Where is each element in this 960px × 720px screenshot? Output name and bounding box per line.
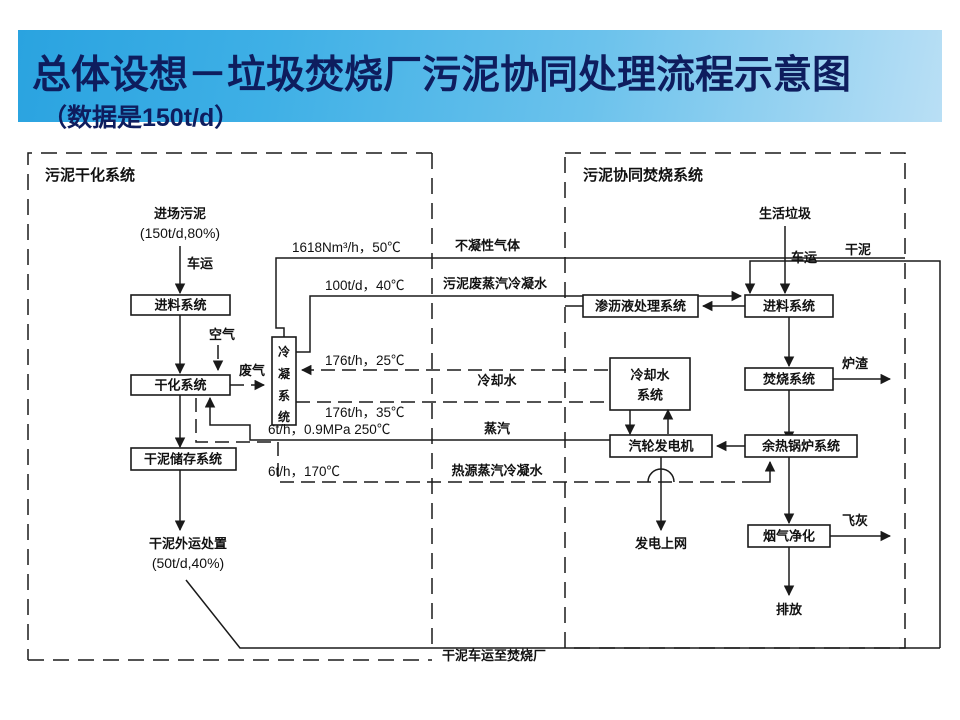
stream-noncondensable-value: 1618Nm³/h，50℃ [292,240,401,255]
title-banner: 总体设想－垃圾焚烧厂污泥协同处理流程示意图 （数据是150t/d） [18,30,942,122]
dry-sludge-output-value: (50t/d,40%) [152,555,224,571]
truck-transport-label-left: 车运 [187,256,213,272]
fly-ash-label: 飞灰 [842,513,868,529]
right-zone-title: 污泥协同焚烧系统 [583,166,703,184]
box-leachate-treatment-label: 渗沥液处理系统 [595,299,686,315]
sludge-input-value: (150t/d,80%) [140,225,220,241]
air-label: 空气 [209,327,235,343]
box-condensation-char-3: 系 [278,388,290,403]
stream-sludge-condensate-name: 污泥废蒸汽冷凝水 [443,276,548,292]
box-condensation-system-label: 冷 [278,344,290,359]
page-title: 总体设想－垃圾焚烧厂污泥协同处理流程示意图 [32,56,851,95]
stream-steam-name: 蒸汽 [484,421,510,437]
box-cooling-water-system-label-2: 系统 [637,388,663,404]
truck-transport-label-right: 车运 [791,250,817,266]
box-condensation-char-2: 凝 [278,366,291,381]
slide-page: 总体设想－垃圾焚烧厂污泥协同处理流程示意图 （数据是150t/d） 污泥干化系统… [0,0,960,720]
page-subtitle: （数据是150t/d） [42,106,239,131]
stream-sludge-condensate-value: 100t/d，40℃ [325,278,405,293]
box-waste-heat-boiler-label: 余热锅炉系统 [761,439,840,455]
power-to-grid-label: 发电上网 [634,536,687,552]
box-feed-system-right-label: 进料系统 [763,299,815,315]
dry-sludge-output-label: 干泥外运处置 [149,536,227,552]
box-dry-sludge-storage-label: 干泥储存系统 [144,452,222,468]
stream-noncondensable-name: 不凝性气体 [455,238,521,254]
box-drying-system-label: 干化系统 [154,378,206,394]
process-flow-diagram: 污泥干化系统 污泥协同焚烧系统 进场污泥 (150t/d,80%) 车运 进料系… [0,130,960,720]
left-zone-title: 污泥干化系统 [45,166,135,184]
turbine-condensate-to-boiler [745,462,770,482]
stream-cooling-water-name: 冷却水 [477,373,517,389]
sludge-input-label: 进场污泥 [154,206,206,222]
emission-label: 排放 [776,602,803,618]
stream-cw-return-value: 176t/h，35℃ [325,405,405,420]
box-incineration-system-label: 焚烧系统 [762,372,815,388]
stream-hs-condensate-name: 热源蒸汽冷凝水 [451,463,543,479]
municipal-waste-label: 生活垃圾 [759,206,812,222]
box-cooling-water-system-label-1: 冷却水 [630,368,670,384]
slag-label: 炉渣 [842,356,869,372]
exhaust-gas-label: 废气 [239,363,265,379]
stream-steam-value: 6t/h，0.9MPa 250℃ [268,422,390,437]
dry-sludge-truck-connector [186,580,940,648]
stream-hs-condensate-value: 6t/h，170℃ [268,464,340,479]
box-feed-system-left-label: 进料系统 [154,298,206,314]
stream-cw-supply-value: 176t/h，25℃ [325,353,405,368]
bottom-caption: 干泥车运至焚烧厂 [442,648,546,664]
dry-sludge-label-right: 干泥 [845,243,871,258]
box-flue-gas-cleaning-label: 烟气净化 [763,529,815,545]
box-steam-turbine-generator-label: 汽轮发电机 [628,439,693,455]
